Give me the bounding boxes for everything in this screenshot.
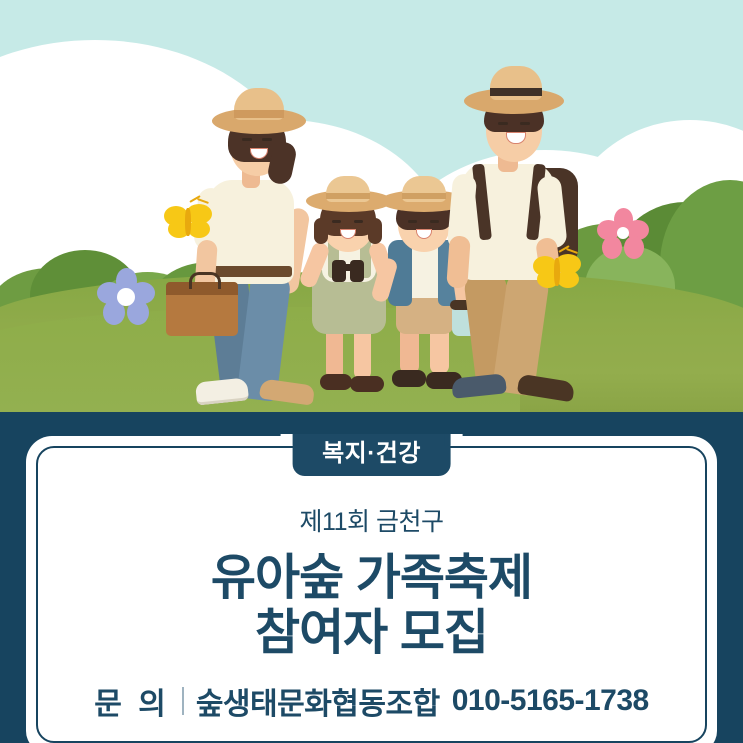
daughter-eye-left <box>332 220 341 223</box>
butterfly-right-icon <box>533 250 581 292</box>
father-shoe-front <box>517 374 575 403</box>
contact-phone[interactable]: 010-5165-1738 <box>452 684 649 718</box>
info-card-inner-border: 복지·건강 제11회 금천구 유아숲 가족축제 참여자 모집 문 의 숲생태문화… <box>36 446 707 743</box>
mother-eye-left <box>242 138 252 141</box>
category-badge: 복지·건강 <box>292 434 451 476</box>
info-card-content: 복지·건강 제11회 금천구 유아숲 가족축제 참여자 모집 문 의 숲생태문화… <box>38 448 705 741</box>
info-card: 복지·건강 제11회 금천구 유아숲 가족축제 참여자 모집 문 의 숲생태문화… <box>26 436 717 743</box>
son-eye-right <box>430 220 439 223</box>
son-shoe-left <box>392 370 426 387</box>
event-headline: 유아숲 가족축제 참여자 모집 <box>211 551 532 661</box>
flower-petal <box>624 236 644 259</box>
contact-label: 문 의 <box>94 679 170 723</box>
daughter-hat-band <box>326 193 370 199</box>
contact-organization: 숲생태문화협동조합 <box>196 679 440 723</box>
butterfly-body <box>554 258 560 286</box>
butterfly-wing <box>188 220 210 238</box>
father-hat-band <box>490 88 542 96</box>
daughter-eye-right <box>354 220 363 223</box>
butterfly-body <box>185 208 191 236</box>
flower-blue-icon <box>97 268 155 326</box>
daughter-leg-right <box>354 326 371 380</box>
event-poster: 복지·건강 제11회 금천구 유아숲 가족축제 참여자 모집 문 의 숲생태문화… <box>0 0 743 743</box>
butterfly-wing <box>557 270 579 288</box>
illustration-scene <box>0 0 743 412</box>
event-subtitle: 제11회 금천구 <box>300 510 444 535</box>
father-arm-left <box>446 235 471 288</box>
son-eye-left <box>408 220 417 223</box>
mother-hat-band <box>234 110 284 118</box>
father-eye-right <box>520 122 530 125</box>
daughter-shoe-left <box>320 374 352 390</box>
flower-center <box>117 288 135 306</box>
event-headline-line1: 유아숲 가족축제 <box>211 551 532 606</box>
mother-eye-right <box>262 138 272 141</box>
info-panel: 복지·건강 제11회 금천구 유아숲 가족축제 참여자 모집 문 의 숲생태문화… <box>0 412 743 743</box>
daughter-leg-left <box>326 326 343 380</box>
mother-belt <box>210 266 292 277</box>
daughter-braid-left <box>314 218 328 244</box>
contact-line: 문 의 숲생태문화협동조합 010-5165-1738 <box>94 679 648 723</box>
contact-divider <box>182 687 184 715</box>
flower-pink-icon <box>597 208 649 260</box>
son-hat-band <box>402 193 446 199</box>
father-eye-left <box>498 122 508 125</box>
event-headline-line2: 참여자 모집 <box>211 606 532 661</box>
figure-father <box>442 60 602 400</box>
father-shoe-back <box>451 373 507 399</box>
picnic-basket-handle <box>189 272 221 289</box>
flower-center <box>617 227 629 239</box>
butterfly-left-icon <box>164 200 212 242</box>
flower-petal <box>602 236 622 259</box>
binoculars-bridge <box>344 264 354 271</box>
